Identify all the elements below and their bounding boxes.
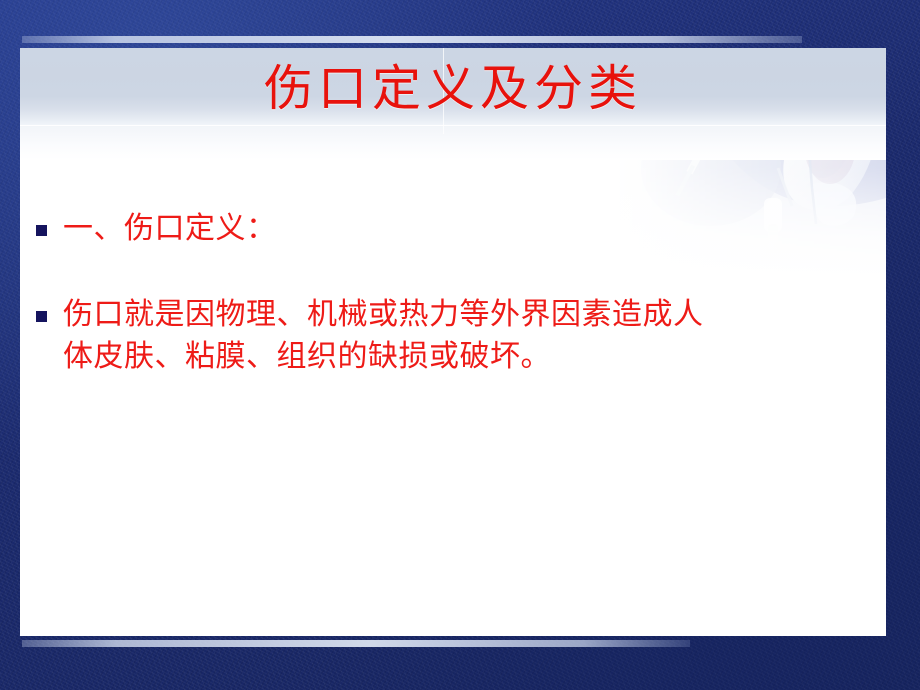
bullet-item: 一、伤口定义： (36, 208, 868, 250)
bottom-decorative-rule (22, 640, 690, 647)
square-bullet-icon (36, 311, 47, 322)
bullet-item-text: 伤口就是因物理、机械或热力等外界因素造成人 体皮肤、粘膜、组织的缺损或破坏。 (63, 294, 868, 378)
top-decorative-rule (22, 36, 802, 43)
bullet-item: 伤口就是因物理、机械或热力等外界因素造成人 体皮肤、粘膜、组织的缺损或破坏。 (36, 294, 868, 378)
square-bullet-icon (36, 225, 47, 236)
title-band-fade (20, 126, 886, 160)
presentation-slide: 伤口定义及分类 一、伤口定义： 伤口就是因物理、机械或热力等外界因素造成人 体皮… (0, 0, 920, 690)
bullet-item-text: 一、伤口定义： (63, 208, 868, 250)
slide-title: 伤口定义及分类 (20, 58, 886, 120)
bullet-line: 伤口就是因物理、机械或热力等外界因素造成人 (63, 294, 868, 336)
slide-body: 一、伤口定义： 伤口就是因物理、机械或热力等外界因素造成人 体皮肤、粘膜、组织的… (36, 208, 868, 378)
slide-content-panel: 伤口定义及分类 一、伤口定义： 伤口就是因物理、机械或热力等外界因素造成人 体皮… (20, 48, 886, 636)
bullet-line: 一、伤口定义： (63, 208, 868, 250)
bullet-line: 体皮肤、粘膜、组织的缺损或破坏。 (63, 336, 868, 378)
